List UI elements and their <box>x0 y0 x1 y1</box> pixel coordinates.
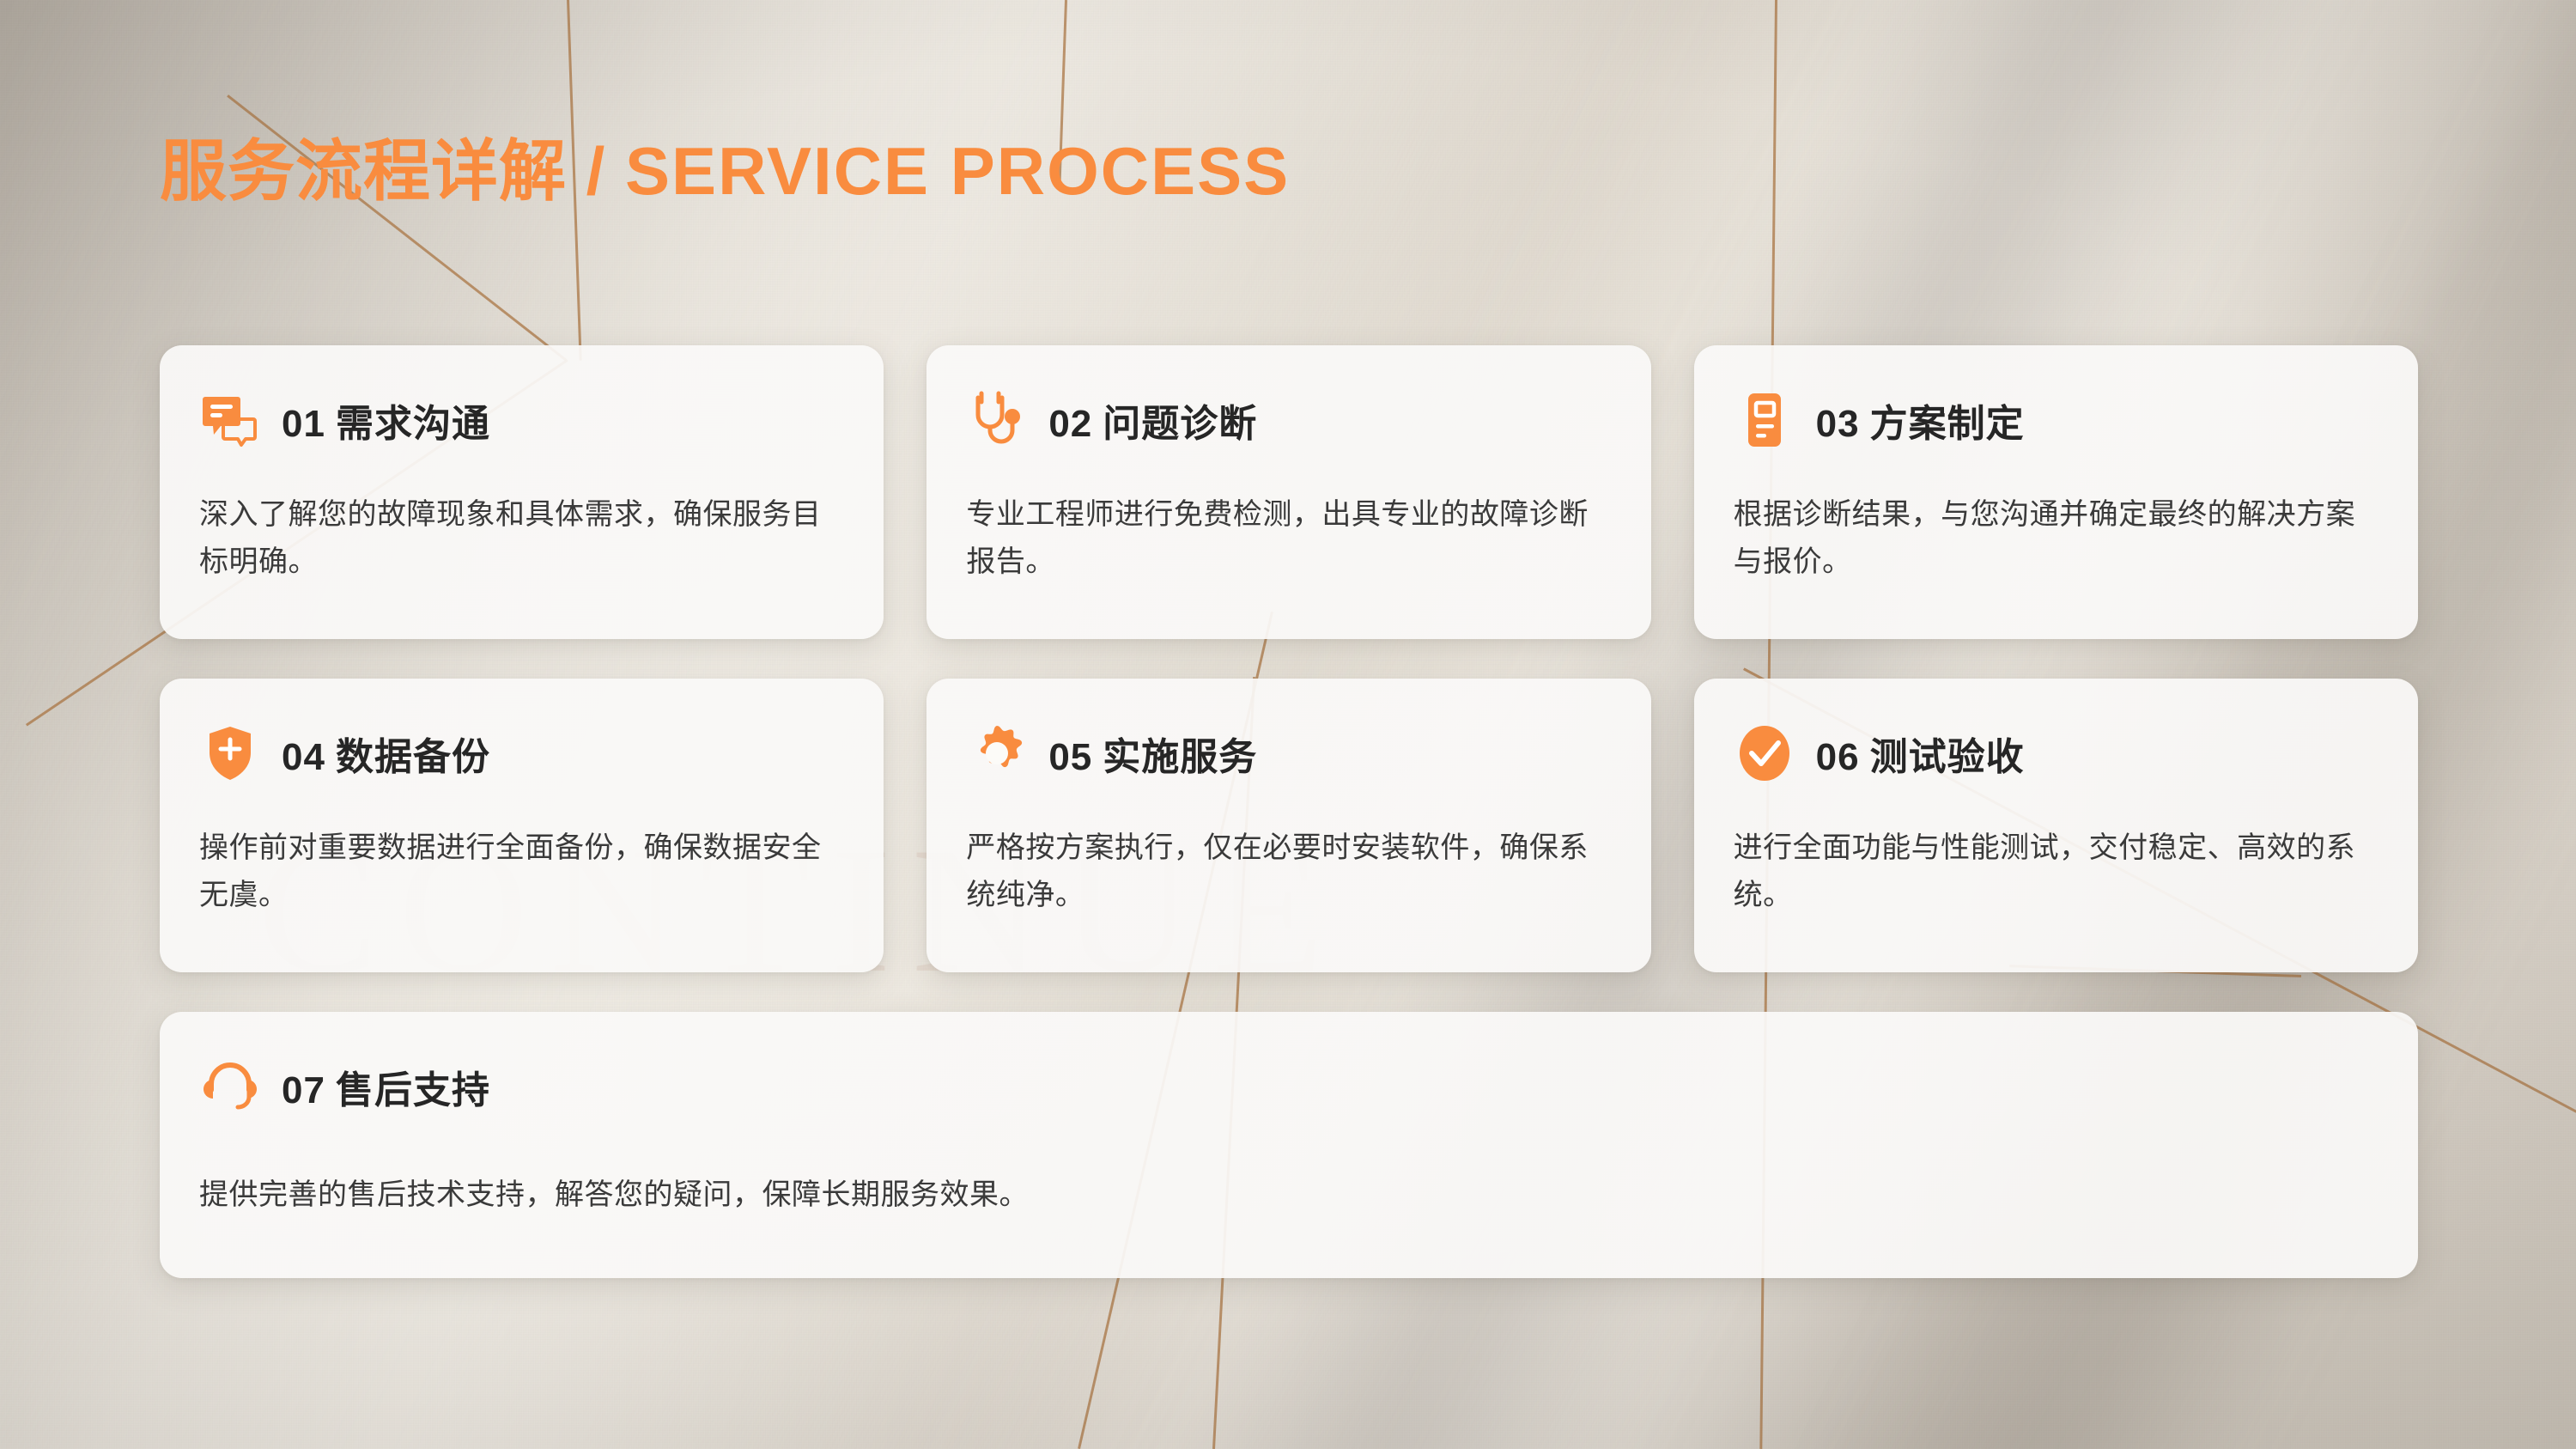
process-steps-row-2: 04数据备份 操作前对重要数据进行全面备份，确保数据安全无虞。 05实施服务 <box>160 679 2418 972</box>
card-header: 04数据备份 <box>199 716 844 790</box>
process-step-card-01[interactable]: 01需求沟通 深入了解您的故障现象和具体需求，确保服务目标明确。 <box>160 345 884 639</box>
process-step-card-05[interactable]: 05实施服务 严格按方案执行，仅在必要时安装软件，确保系统纯净。 <box>927 679 1650 972</box>
service-process-slide: CONTINUE 服务流程详解 / SERVICE PROCESS <box>0 0 2576 1449</box>
step-name: 问题诊断 <box>1103 403 1257 445</box>
step-number: 01 <box>282 403 325 445</box>
card-description: 操作前对重要数据进行全面备份，确保数据安全无虞。 <box>199 825 844 919</box>
card-description: 进行全面功能与性能测试，交付稳定、高效的系统。 <box>1734 825 2379 919</box>
process-steps-grid: 01需求沟通 深入了解您的故障现象和具体需求，确保服务目标明确。 <box>160 345 2418 1318</box>
card-description: 根据诊断结果，与您沟通并确定最终的解决方案与报价。 <box>1734 491 2379 586</box>
step-name: 实施服务 <box>1103 736 1257 778</box>
card-description: 深入了解您的故障现象和具体需求，确保服务目标明确。 <box>199 491 844 586</box>
chat-bubbles-icon <box>199 389 261 451</box>
card-header: 05实施服务 <box>966 716 1611 790</box>
page-title: 服务流程详解 / SERVICE PROCESS <box>160 118 1290 214</box>
card-header: 01需求沟通 <box>199 383 844 457</box>
shield-plus-icon <box>199 722 261 784</box>
card-description: 专业工程师进行免费检测，出具专业的故障诊断报告。 <box>966 491 1611 586</box>
page-title-cn: 服务流程详解 <box>160 133 567 209</box>
page-title-separator: / <box>567 133 625 209</box>
process-steps-row-1: 01需求沟通 深入了解您的故障现象和具体需求，确保服务目标明确。 <box>160 345 2418 639</box>
gear-icon <box>966 722 1028 784</box>
step-number: 04 <box>282 736 325 778</box>
process-steps-row-3: 07售后支持 提供完善的售后技术支持，解答您的疑问，保障长期服务效果。 <box>160 1012 2418 1278</box>
step-name: 售后支持 <box>336 1069 490 1111</box>
card-header: 03方案制定 <box>1734 383 2379 457</box>
step-number: 05 <box>1048 736 1092 778</box>
card-title: 05实施服务 <box>1048 726 1257 781</box>
card-title: 01需求沟通 <box>282 393 490 447</box>
step-number: 02 <box>1048 403 1092 445</box>
check-circle-icon <box>1734 722 1795 784</box>
card-header: 06测试验收 <box>1734 716 2379 790</box>
card-header: 07售后支持 <box>199 1050 2379 1123</box>
process-step-card-04[interactable]: 04数据备份 操作前对重要数据进行全面备份，确保数据安全无虞。 <box>160 679 884 972</box>
stethoscope-icon <box>966 389 1028 451</box>
step-name: 需求沟通 <box>336 403 490 445</box>
process-step-card-03[interactable]: 03方案制定 根据诊断结果，与您沟通并确定最终的解决方案与报价。 <box>1694 345 2418 639</box>
process-step-card-06[interactable]: 06测试验收 进行全面功能与性能测试，交付稳定、高效的系统。 <box>1694 679 2418 972</box>
document-plan-icon <box>1734 389 1795 451</box>
step-name: 方案制定 <box>1870 403 2025 445</box>
process-step-card-07[interactable]: 07售后支持 提供完善的售后技术支持，解答您的疑问，保障长期服务效果。 <box>160 1012 2418 1278</box>
card-title: 03方案制定 <box>1816 393 2025 447</box>
process-step-card-02[interactable]: 02问题诊断 专业工程师进行免费检测，出具专业的故障诊断报告。 <box>927 345 1650 639</box>
card-description: 提供完善的售后技术支持，解答您的疑问，保障长期服务效果。 <box>199 1172 2379 1219</box>
page-title-en: SERVICE PROCESS <box>625 133 1290 209</box>
step-number: 03 <box>1816 403 1860 445</box>
card-title: 07售后支持 <box>282 1059 490 1114</box>
step-number: 06 <box>1816 736 1860 778</box>
step-name: 测试验收 <box>1870 736 2025 778</box>
step-number: 07 <box>282 1069 325 1111</box>
card-title: 02问题诊断 <box>1048 393 1257 447</box>
step-name: 数据备份 <box>336 736 490 778</box>
card-title: 04数据备份 <box>282 726 490 781</box>
card-description: 严格按方案执行，仅在必要时安装软件，确保系统纯净。 <box>966 825 1611 919</box>
card-header: 02问题诊断 <box>966 383 1611 457</box>
card-title: 06测试验收 <box>1816 726 2025 781</box>
headset-icon <box>199 1056 261 1117</box>
